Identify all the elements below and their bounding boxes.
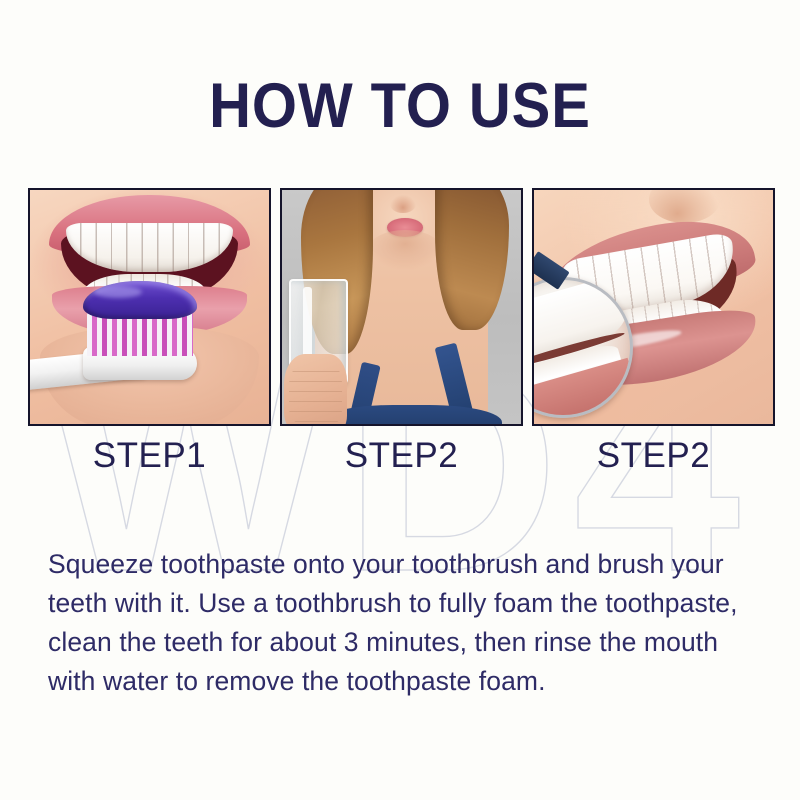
step-2-label: STEP2 — [280, 436, 523, 476]
step-2-photo-rinsing — [280, 188, 523, 426]
page-title: HOW TO USE — [32, 74, 768, 138]
step-3-photo-smile-mirror — [532, 188, 775, 426]
hair-right-shape — [435, 188, 509, 330]
step-card-3: STEP2 — [532, 188, 775, 476]
blue-top-shape — [320, 405, 502, 426]
nose-shape — [390, 195, 416, 214]
usage-description: Squeeze toothpaste onto your toothbrush … — [48, 545, 758, 701]
steps-row: STEP1 STEP2 — [28, 188, 775, 476]
hand-shape — [284, 354, 346, 426]
step-card-1: STEP1 — [28, 188, 271, 476]
how-to-use-infographic: HOW TO USE STEP1 — [0, 0, 800, 800]
step-1-label: STEP1 — [28, 436, 271, 476]
step-3-label: STEP2 — [532, 436, 775, 476]
dental-mirror-shape — [532, 277, 633, 419]
step-1-photo-toothbrush — [28, 188, 271, 426]
step-card-2: STEP2 — [280, 188, 523, 476]
puffed-cheek-shape — [368, 230, 442, 270]
